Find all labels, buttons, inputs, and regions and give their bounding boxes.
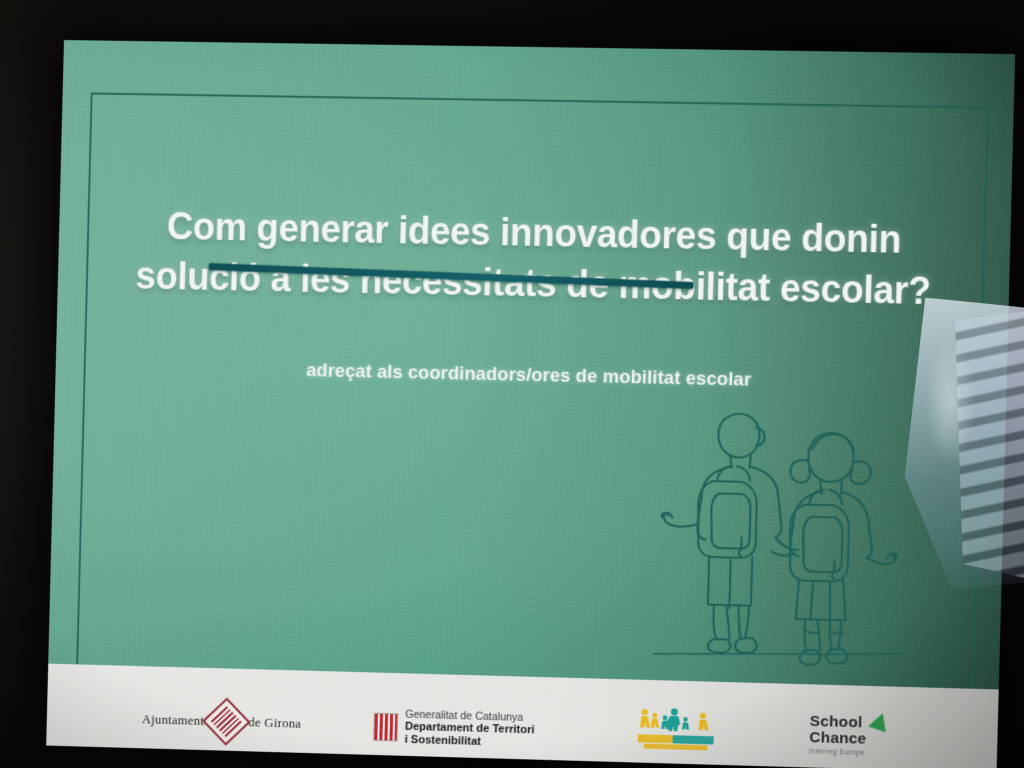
schoolchildren-illustration [651, 401, 910, 671]
school-chance-row: School Chance [809, 714, 890, 749]
school-chance-line-3: Interreg Europe [809, 748, 865, 757]
presentation-slide: Com generar idees innovadores que donin … [46, 40, 1015, 768]
school-chance-line-2: Chance [809, 730, 866, 748]
schoolchildren-line-art [651, 401, 910, 671]
logo-ajuntament-de-girona: Ajuntament de Girona [142, 702, 302, 741]
logo-camins-escolars [635, 707, 718, 751]
gencat-text-block: Generalitat de Catalunya Departament de … [404, 709, 535, 750]
ajuntament-text-after: de Girona [248, 715, 301, 732]
logo-generalitat-de-catalunya: Generalitat de Catalunya Departament de … [373, 708, 535, 750]
walking-figures-icon [635, 707, 718, 736]
camins-tagline-bar [644, 744, 708, 751]
green-arrow-icon [869, 710, 892, 732]
projected-slide-photo: Com generar idees innovadores que donin … [0, 0, 1024, 768]
ajuntament-text-before: Ajuntament [142, 712, 205, 729]
slide-title: Com generar idees innovadores que donin … [107, 201, 962, 318]
logo-school-chance: School Chance Interreg Europe [809, 714, 890, 758]
school-chance-text-block: School Chance [809, 714, 867, 748]
girona-crest-icon [202, 698, 250, 746]
senyera-icon [373, 712, 398, 741]
